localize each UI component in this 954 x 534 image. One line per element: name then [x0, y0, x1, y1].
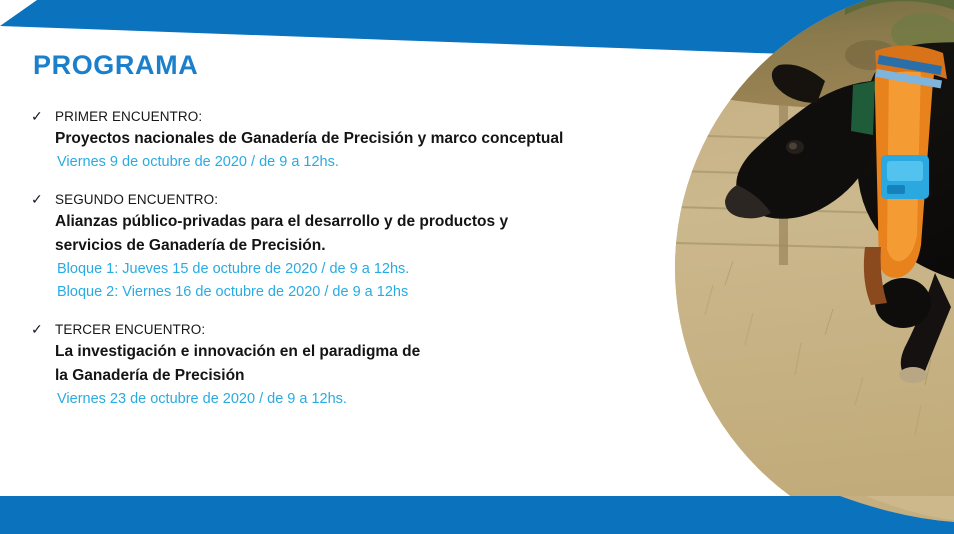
slide-content: PROGRAMA ✓ PRIMER ENCUENTRO: Proyectos n… — [0, 0, 700, 534]
block-heading: SEGUNDO ENCUENTRO: — [55, 192, 218, 207]
block-heading-row: ✓ TERCER ENCUENTRO: — [0, 321, 700, 339]
check-icon: ✓ — [31, 192, 45, 206]
cow-photo-image — [675, 0, 954, 534]
block-title-line: servicios de Ganadería de Precisión. — [0, 235, 700, 257]
cow-photo-circle — [675, 0, 954, 534]
block-heading: TERCER ENCUENTRO: — [55, 322, 205, 337]
block-heading-row: ✓ SEGUNDO ENCUENTRO: — [0, 191, 700, 209]
cow-photo-svg — [675, 0, 954, 534]
program-block-list: ✓ PRIMER ENCUENTRO: Proyectos nacionales… — [0, 108, 700, 428]
block-heading-row: ✓ PRIMER ENCUENTRO: — [0, 108, 700, 126]
slide-canvas: PROGRAMA ✓ PRIMER ENCUENTRO: Proyectos n… — [0, 0, 954, 534]
block-title-line: Alianzas público-privadas para el desarr… — [0, 211, 700, 233]
check-icon: ✓ — [31, 109, 45, 123]
block-title-line: la Ganadería de Precisión — [0, 365, 700, 387]
block-date-line: Bloque 1: Jueves 15 de octubre de 2020 /… — [0, 258, 700, 280]
block-date-line: Viernes 9 de octubre de 2020 / de 9 a 12… — [0, 151, 700, 173]
block-title-line: La investigación e innovación en el para… — [0, 341, 700, 363]
program-block: ✓ TERCER ENCUENTRO: La investigación e i… — [0, 321, 700, 410]
block-title-line: Proyectos nacionales de Ganadería de Pre… — [0, 128, 700, 150]
program-block: ✓ SEGUNDO ENCUENTRO: Alianzas público-pr… — [0, 191, 700, 303]
block-date-line: Viernes 23 de octubre de 2020 / de 9 a 1… — [0, 388, 700, 410]
program-block: ✓ PRIMER ENCUENTRO: Proyectos nacionales… — [0, 108, 700, 173]
block-date-line: Bloque 2: Viernes 16 de octubre de 2020 … — [0, 281, 700, 303]
check-icon: ✓ — [31, 322, 45, 336]
page-title: PROGRAMA — [33, 50, 198, 81]
block-heading: PRIMER ENCUENTRO: — [55, 109, 202, 124]
